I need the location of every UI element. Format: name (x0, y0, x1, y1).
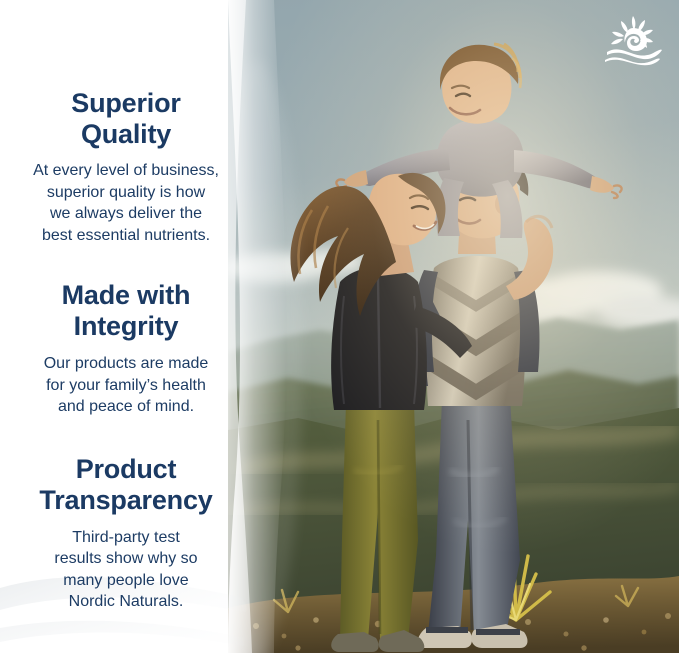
value-block-superior-quality: SuperiorQuality At every level of busine… (18, 88, 234, 246)
sun-wave-logo-icon (603, 14, 663, 66)
value-heading: ProductTransparency (18, 454, 234, 516)
value-block-product-transparency: ProductTransparency Third-party testresu… (18, 454, 234, 613)
value-heading: Made withIntegrity (18, 280, 234, 342)
value-body: At every level of business,superior qual… (18, 160, 234, 246)
value-block-made-with-integrity: Made withIntegrity Our products are made… (18, 280, 234, 418)
value-body: Our products are madefor your family’s h… (18, 353, 234, 418)
value-body: Third-party testresults show why somany … (18, 527, 234, 613)
photo-illustration (228, 0, 679, 653)
lifestyle-photo (228, 0, 679, 653)
promo-banner: SuperiorQuality At every level of busine… (0, 0, 679, 653)
value-props-column: SuperiorQuality At every level of busine… (0, 0, 252, 653)
value-heading: SuperiorQuality (18, 88, 234, 150)
logo-mark (603, 14, 663, 66)
